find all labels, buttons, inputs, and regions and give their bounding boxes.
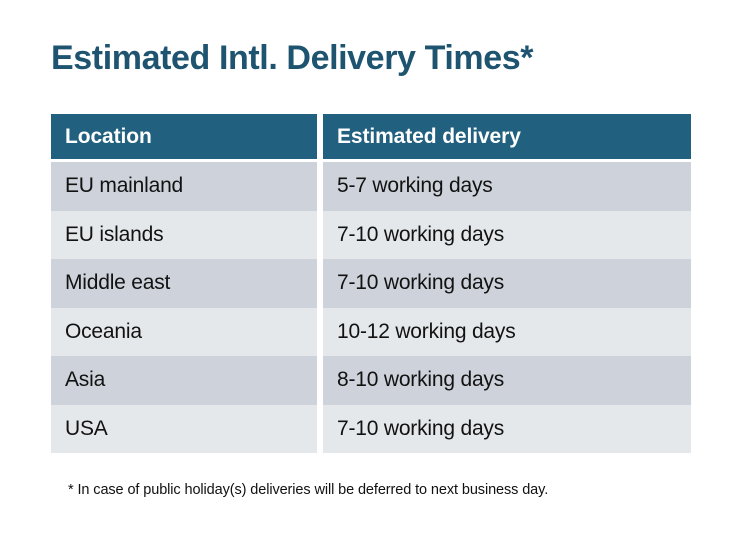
cell-location: Asia — [51, 356, 317, 405]
table-row: Oceania 10-12 working days — [51, 308, 691, 357]
cell-location: Oceania — [51, 308, 317, 357]
cell-location: EU mainland — [51, 162, 317, 211]
cell-location: EU islands — [51, 211, 317, 260]
cell-location: Middle east — [51, 259, 317, 308]
cell-estimated-delivery: 8-10 working days — [323, 356, 691, 405]
column-header-location: Location — [51, 114, 317, 159]
table-header-row: Location Estimated delivery — [51, 114, 691, 159]
footnote-text: * In case of public holiday(s) deliverie… — [68, 480, 548, 500]
cell-estimated-delivery: 7-10 working days — [323, 259, 691, 308]
table-row: USA 7-10 working days — [51, 405, 691, 454]
cell-location: USA — [51, 405, 317, 454]
column-header-estimated-delivery: Estimated delivery — [323, 114, 691, 159]
delivery-times-page: Estimated Intl. Delivery Times* Location… — [0, 0, 745, 536]
cell-estimated-delivery: 7-10 working days — [323, 211, 691, 260]
table-row: Middle east 7-10 working days — [51, 259, 691, 308]
table-row: Asia 8-10 working days — [51, 356, 691, 405]
table-row: EU mainland 5-7 working days — [51, 162, 691, 211]
cell-estimated-delivery: 7-10 working days — [323, 405, 691, 454]
table-row: EU islands 7-10 working days — [51, 211, 691, 260]
page-title: Estimated Intl. Delivery Times* — [51, 36, 533, 80]
cell-estimated-delivery: 5-7 working days — [323, 162, 691, 211]
cell-estimated-delivery: 10-12 working days — [323, 308, 691, 357]
estimated-delivery-times-table: Location Estimated delivery EU mainland … — [51, 114, 691, 453]
